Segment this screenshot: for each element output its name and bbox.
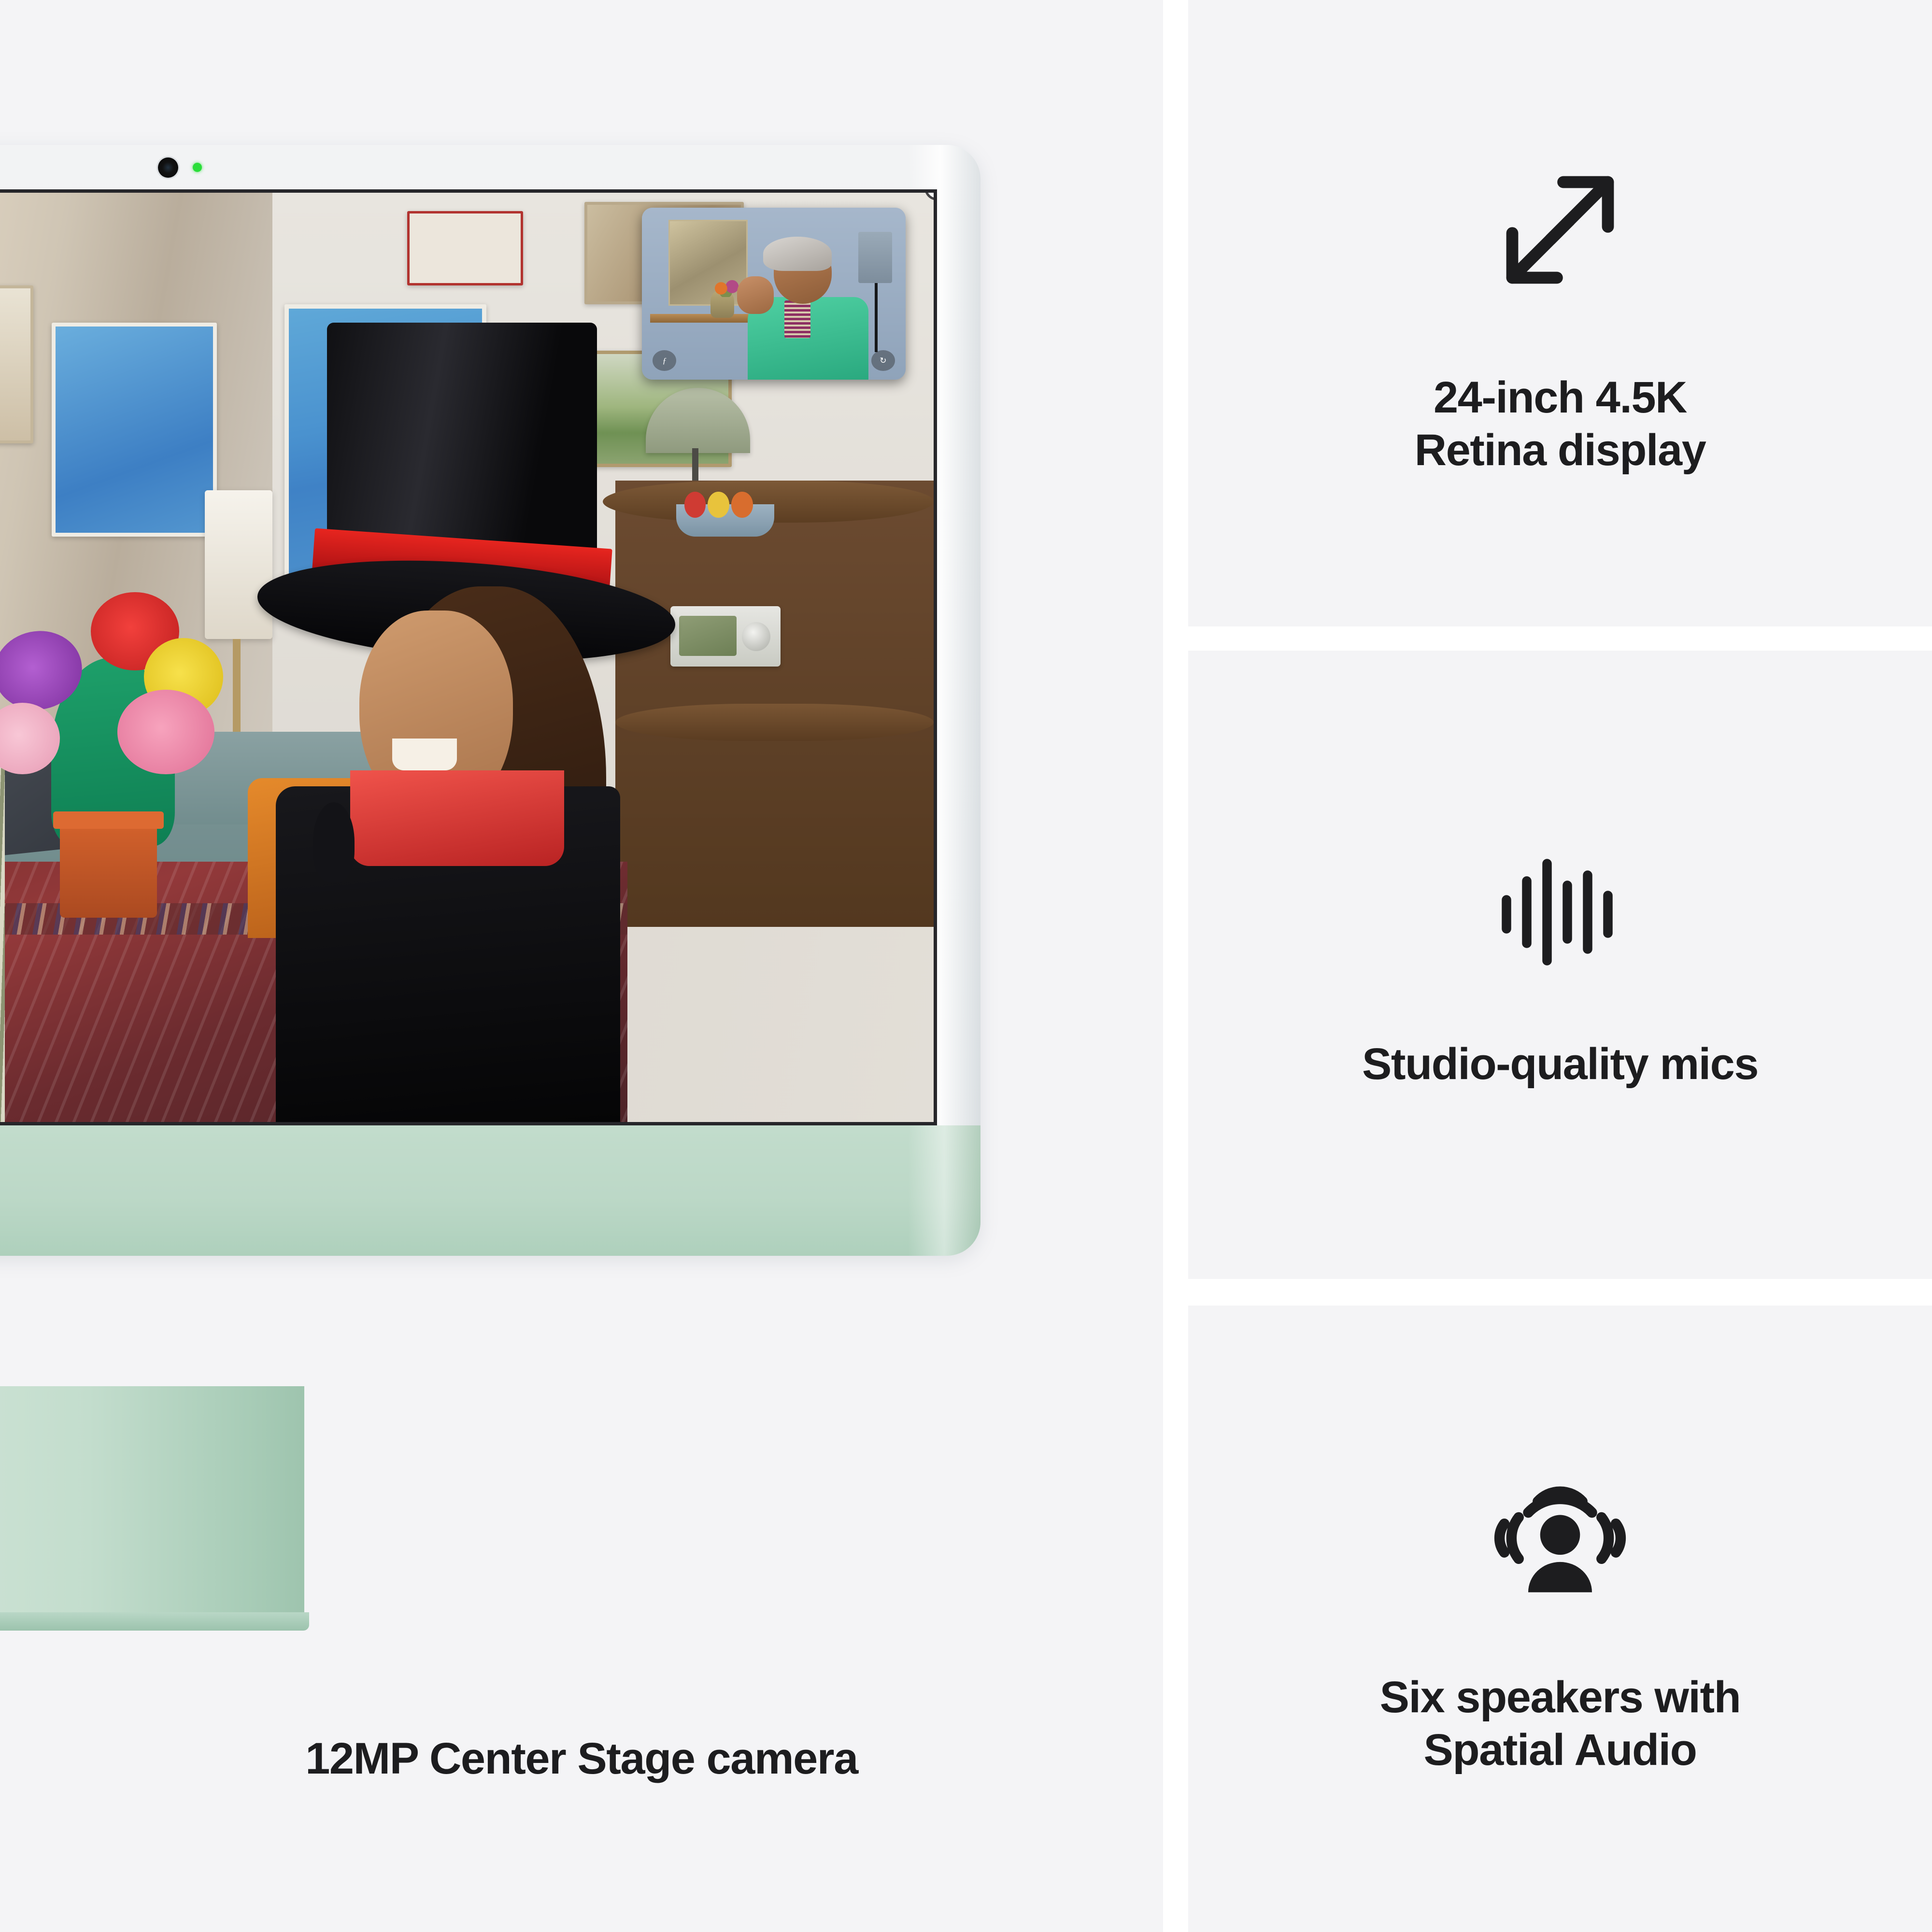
wall-art-red-frame	[407, 211, 524, 285]
feature-grid: ƒ ↻ 12MP Center Stage camera	[0, 0, 1932, 1932]
cape-tie	[313, 802, 355, 882]
imac-product-image: ƒ ↻	[0, 145, 980, 1256]
facetime-pip-window[interactable]: ƒ ↻	[642, 208, 905, 380]
camera-feature-label: 12MP Center Stage camera	[0, 1734, 1163, 1784]
pip-person-hand	[737, 276, 774, 314]
display-label-line1: 24-inch 4.5K	[1415, 371, 1706, 424]
flower-pot	[60, 820, 157, 918]
imac-stand-foot	[0, 1612, 309, 1631]
flower-pink	[117, 690, 214, 774]
pip-person-hair	[763, 237, 832, 271]
imac-display: ƒ ↻	[0, 189, 937, 1125]
pip-lamp-stem	[875, 283, 878, 352]
camera-lens-icon	[158, 157, 178, 178]
imac-top-bezel	[0, 145, 980, 189]
camera-indicator-icon	[193, 163, 202, 172]
facetime-effects-icon[interactable]: ƒ	[653, 350, 676, 371]
child-magician	[248, 323, 713, 1122]
mics-label-line1: Studio-quality mics	[1362, 1038, 1758, 1091]
imac-chin	[0, 1125, 980, 1256]
audio-waveform-icon	[1488, 839, 1633, 984]
facetime-video-feed: ƒ ↻	[0, 193, 934, 1122]
flip-camera-icon[interactable]: ↻	[871, 350, 895, 371]
wall-art-mid	[0, 285, 33, 443]
speakers-label-line1: Six speakers with	[1380, 1671, 1741, 1724]
feature-card-microphones-label: Studio-quality mics	[1362, 1038, 1758, 1091]
feature-card-microphones: Studio-quality mics	[1188, 651, 1932, 1279]
camera-feature-panel: ƒ ↻ 12MP Center Stage camera	[0, 0, 1163, 1932]
feature-card-speakers-label: Six speakers with Spatial Audio	[1380, 1671, 1741, 1776]
feather-flower-bouquet	[3, 592, 223, 917]
pip-necklace	[784, 300, 811, 338]
feature-card-speakers: Six speakers with Spatial Audio	[1188, 1306, 1932, 1932]
pip-lamp-shade	[858, 232, 893, 284]
feature-card-display-label: 24-inch 4.5K Retina display	[1415, 371, 1706, 476]
feature-card-column: 24-inch 4.5K Retina display Studio-quali…	[1188, 0, 1932, 1932]
imac-stand-neck	[0, 1386, 304, 1618]
cape-collar	[350, 770, 564, 867]
child-smile	[392, 739, 457, 770]
pip-shelf	[650, 314, 755, 323]
display-label-line2: Retina display	[1415, 424, 1706, 477]
diagonal-arrows-expand-icon	[1480, 150, 1640, 310]
spatial-audio-person-icon	[1480, 1462, 1640, 1621]
speakers-label-line2: Spatial Audio	[1380, 1724, 1741, 1776]
feature-card-display: 24-inch 4.5K Retina display	[1188, 0, 1932, 626]
wall-art-blue-left	[52, 323, 217, 537]
